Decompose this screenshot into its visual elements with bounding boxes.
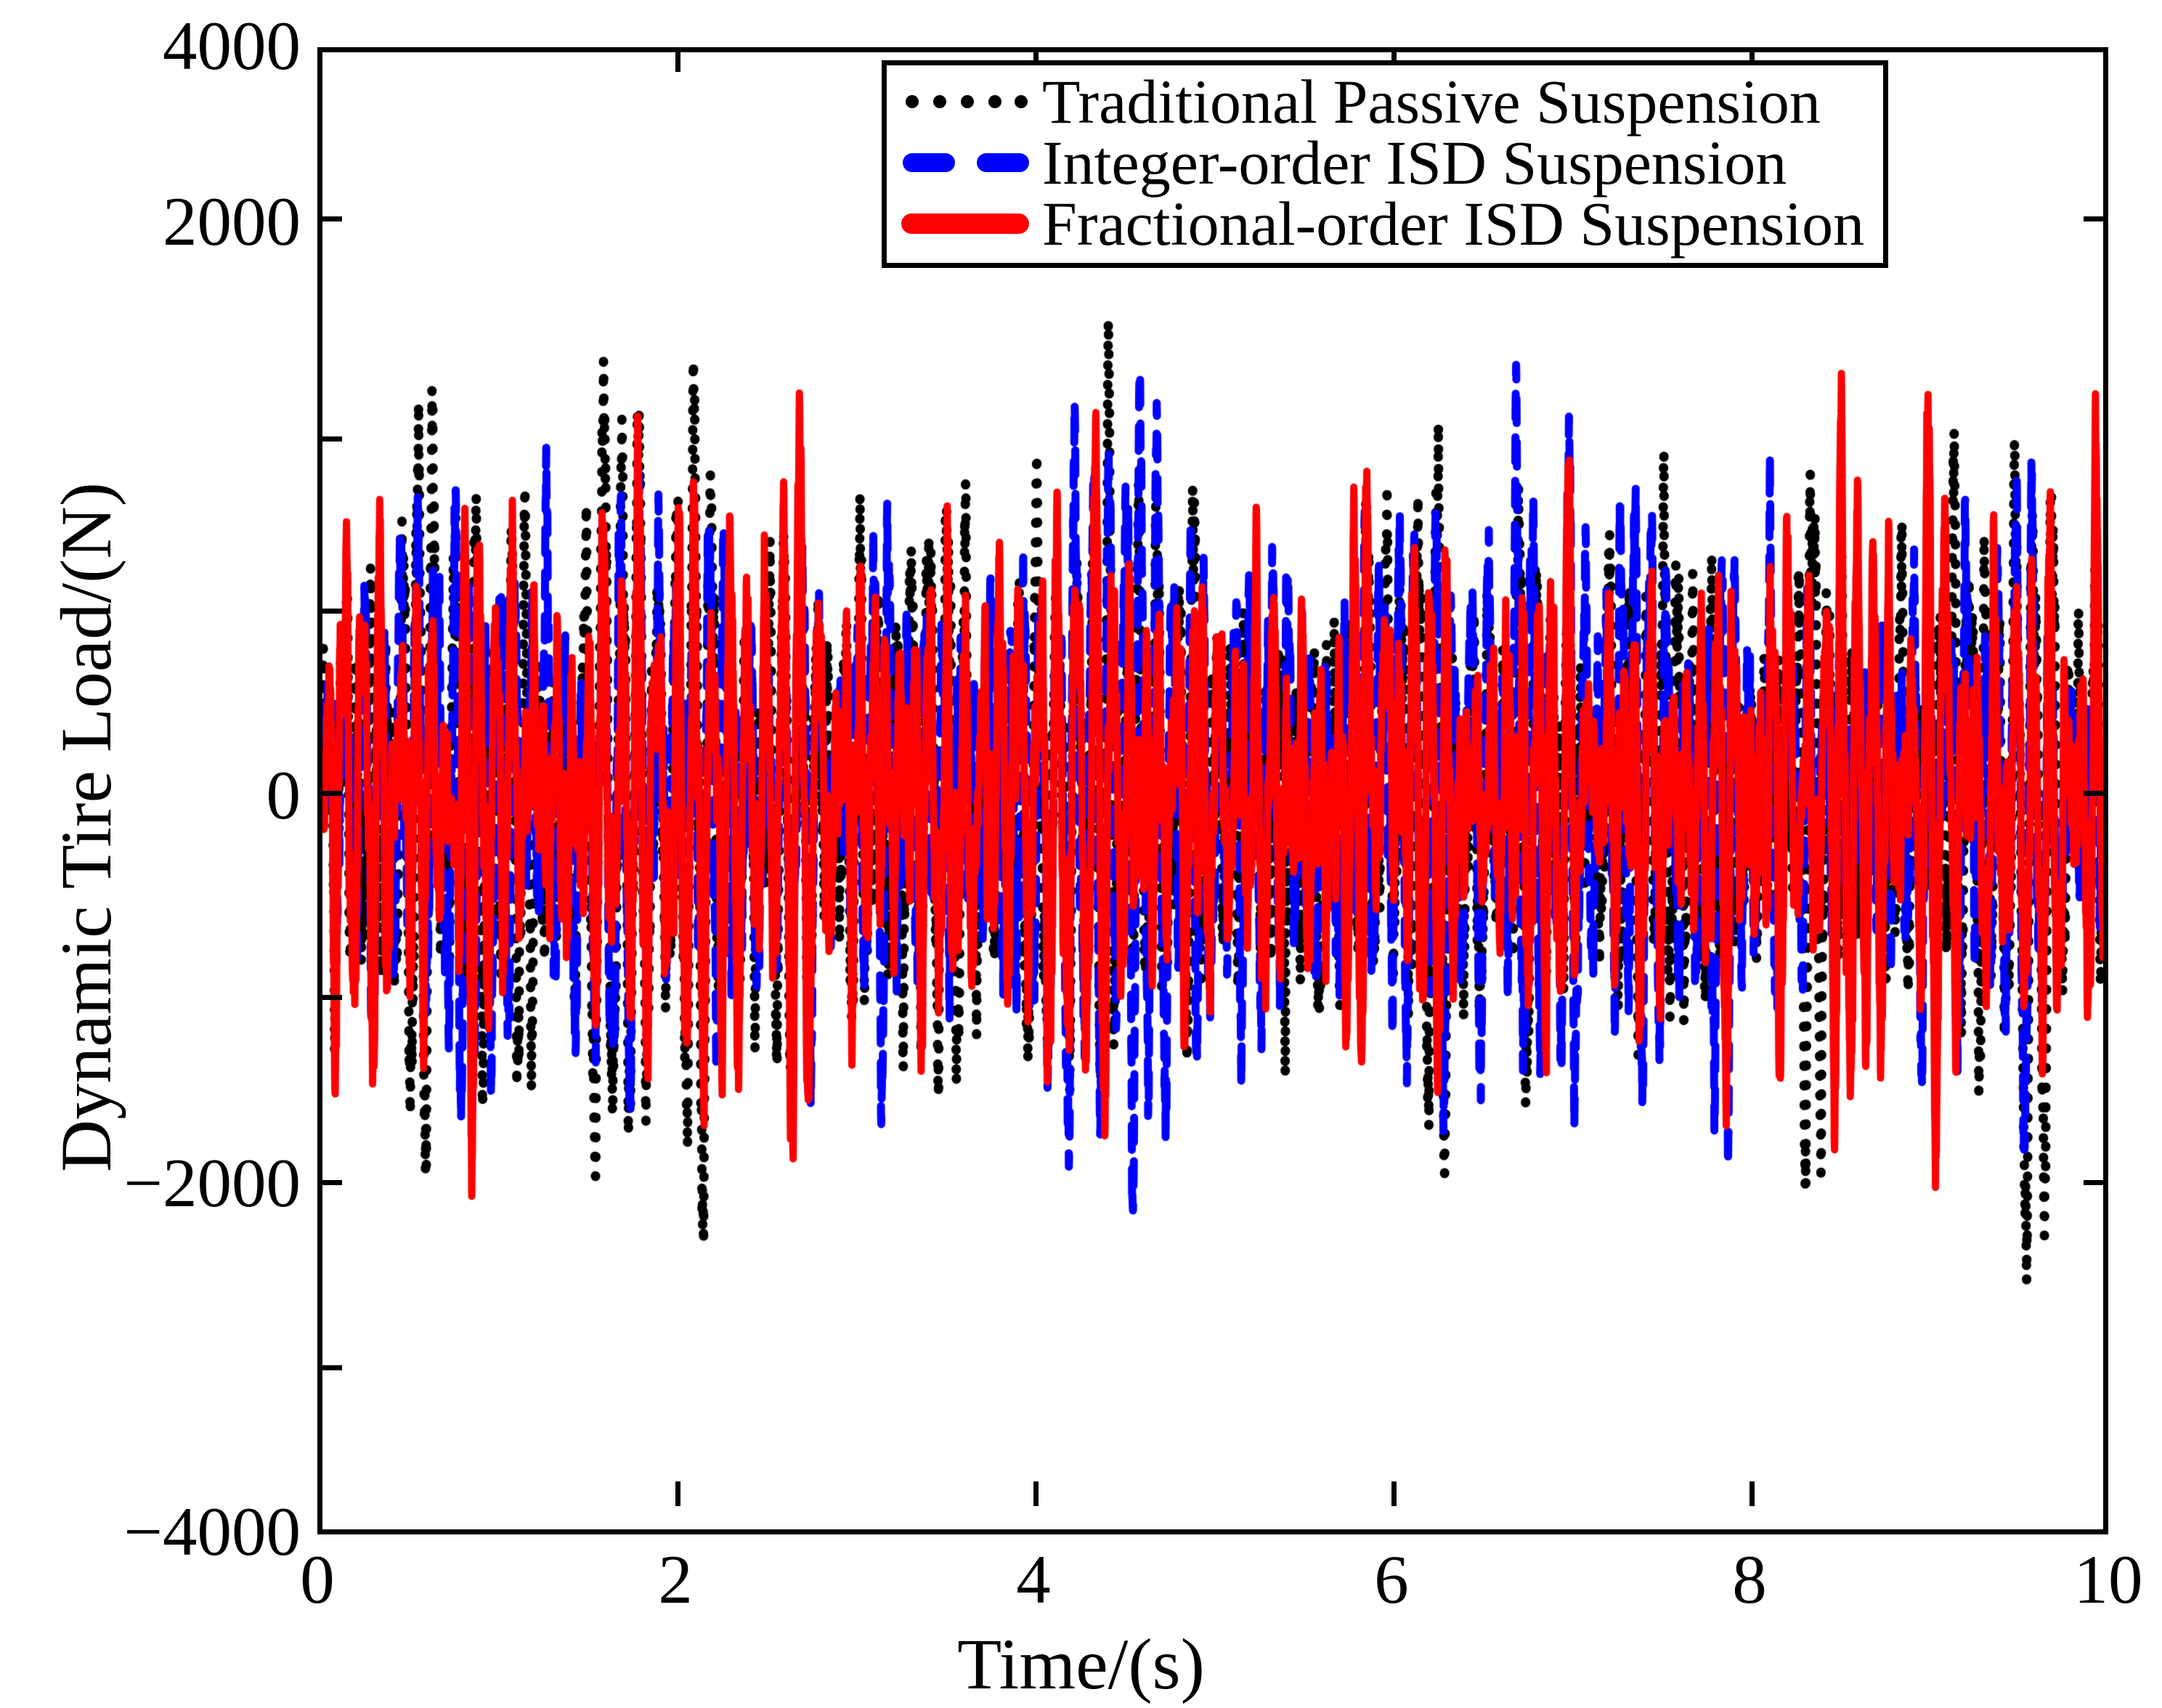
legend-swatch-solid-icon xyxy=(901,213,1029,235)
xtick-mark-4 xyxy=(1033,1481,1039,1506)
ytick-mark-minus2000 xyxy=(317,1180,342,1185)
xtick-mark-8 xyxy=(1749,1481,1755,1506)
ytick-label-4000: 4000 xyxy=(163,12,301,81)
xtick-label-6: 6 xyxy=(1374,1545,1409,1614)
xtick-mark-6 xyxy=(1391,1481,1397,1506)
ytick-mark-minor-3 xyxy=(317,995,342,1000)
xtick-label-8: 8 xyxy=(1732,1545,1767,1614)
ytick-mark-right-0 xyxy=(2084,791,2108,796)
ytick-mark-right-2000 xyxy=(2084,216,2108,221)
legend-label-passive: Traditional Passive Suspension xyxy=(1042,70,1821,133)
y-axis-title-wrap: Dynamic Tire Load/(N) xyxy=(50,84,123,1571)
legend-label-integer-isd: Integer-order ISD Suspension xyxy=(1042,131,1787,194)
legend-swatch-dashed-icon xyxy=(901,152,1029,174)
chart-legend: Traditional Passive Suspension Integer-o… xyxy=(882,60,1888,268)
legend-item-passive[interactable]: Traditional Passive Suspension xyxy=(901,71,1872,132)
data-plot-canvas xyxy=(322,52,2103,1529)
plot-area xyxy=(317,47,2108,1534)
ytick-label-minus-4000: −4000 xyxy=(123,1497,301,1566)
xtick-label-0: 0 xyxy=(300,1545,335,1614)
ytick-mark-2000 xyxy=(317,216,342,221)
ytick-mark-right-minus2000 xyxy=(2084,1180,2108,1185)
chart-figure: 4000 2000 0 −2000 −4000 0 2 4 6 8 10 Tim… xyxy=(0,0,2162,1708)
ytick-mark-minor-1 xyxy=(317,436,342,442)
ytick-mark-minor-4 xyxy=(317,1365,342,1370)
x-axis-title: Time/(s) xyxy=(0,1628,2162,1701)
xtick-mark-top-2 xyxy=(675,47,680,72)
ytick-label-2000: 2000 xyxy=(163,187,301,256)
ytick-label-minus-2000: −2000 xyxy=(123,1149,301,1218)
xtick-label-4: 4 xyxy=(1016,1545,1051,1614)
legend-item-fractional-isd[interactable]: Fractional-order ISD Suspension xyxy=(901,193,1872,254)
legend-label-fractional-isd: Fractional-order ISD Suspension xyxy=(1042,192,1864,255)
y-axis-title: Dynamic Tire Load/(N) xyxy=(46,482,126,1172)
ytick-mark-minor-2 xyxy=(317,609,342,614)
ytick-mark-0 xyxy=(317,791,342,796)
xtick-label-2: 2 xyxy=(658,1545,693,1614)
legend-item-integer-isd[interactable]: Integer-order ISD Suspension xyxy=(901,132,1872,193)
xtick-label-10: 10 xyxy=(2074,1545,2143,1614)
ytick-label-0: 0 xyxy=(267,761,301,830)
xtick-mark-2 xyxy=(675,1481,680,1506)
legend-swatch-dotted-icon xyxy=(901,91,1029,113)
